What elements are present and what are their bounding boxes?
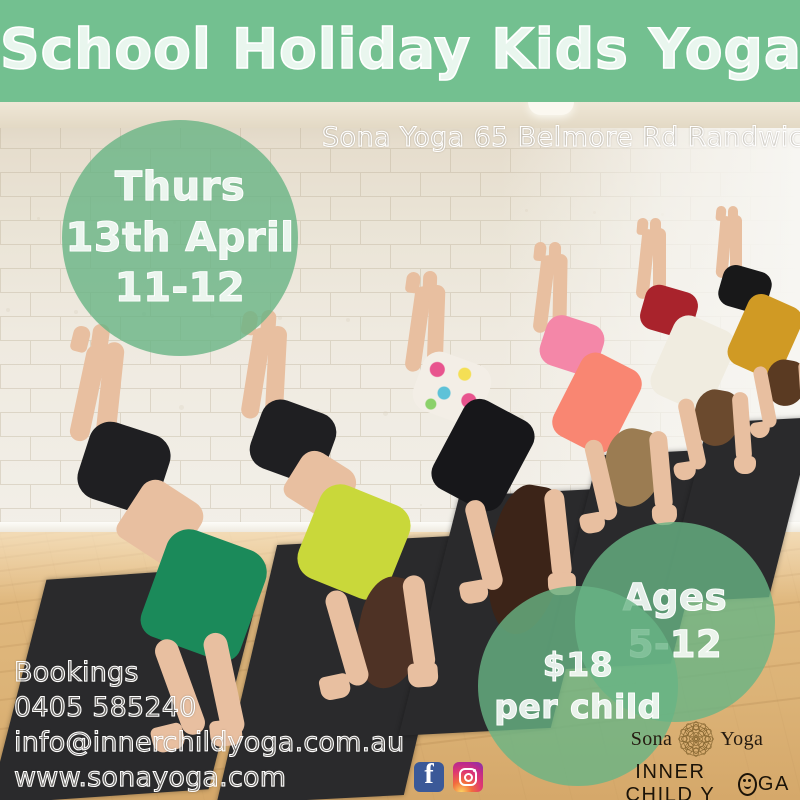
price-amount: $18: [543, 644, 613, 686]
email-address[interactable]: info@innerchildyoga.com.au: [14, 725, 404, 760]
date-date: 13th April: [66, 213, 295, 263]
instagram-dot: [473, 769, 476, 772]
date-circle: Thurs 13th April 11-12: [62, 120, 298, 356]
brand-logos: Sona: [604, 718, 790, 800]
facebook-icon[interactable]: [414, 762, 444, 792]
inner-child-text-pre: INNER CHILD Y: [604, 761, 737, 800]
phone-number[interactable]: 0405 585240: [14, 690, 404, 725]
contact-block: Bookings 0405 585240 info@innerchildyoga…: [14, 655, 404, 795]
website-url[interactable]: www.sonayoga.com: [14, 760, 404, 795]
sona-word-right: Yoga: [720, 728, 763, 751]
ceiling-light: [528, 102, 574, 115]
instagram-lens: [464, 773, 473, 782]
bookings-heading: Bookings: [14, 655, 404, 690]
inner-child-yoga-logo: INNER CHILD Y GA: [604, 761, 790, 800]
sona-yoga-logo: Sona: [604, 718, 790, 760]
smiley-face-icon: [738, 773, 757, 796]
social-icons: [414, 762, 483, 792]
date-time: 11-12: [115, 263, 245, 313]
inner-child-text-post: GA: [758, 773, 790, 796]
mandala-icon: [676, 719, 716, 759]
date-day: Thurs: [115, 162, 245, 212]
sona-word-left: Sona: [631, 728, 673, 751]
page-title: School Holiday Kids Yoga: [0, 16, 800, 82]
venue-address: Sona Yoga 65 Belmore Rd Randwick: [322, 122, 800, 153]
poster: School Holiday Kids Yoga Sona Yoga 65 Be…: [0, 0, 800, 800]
instagram-icon[interactable]: [453, 762, 483, 792]
header-band: School Holiday Kids Yoga: [0, 0, 800, 102]
